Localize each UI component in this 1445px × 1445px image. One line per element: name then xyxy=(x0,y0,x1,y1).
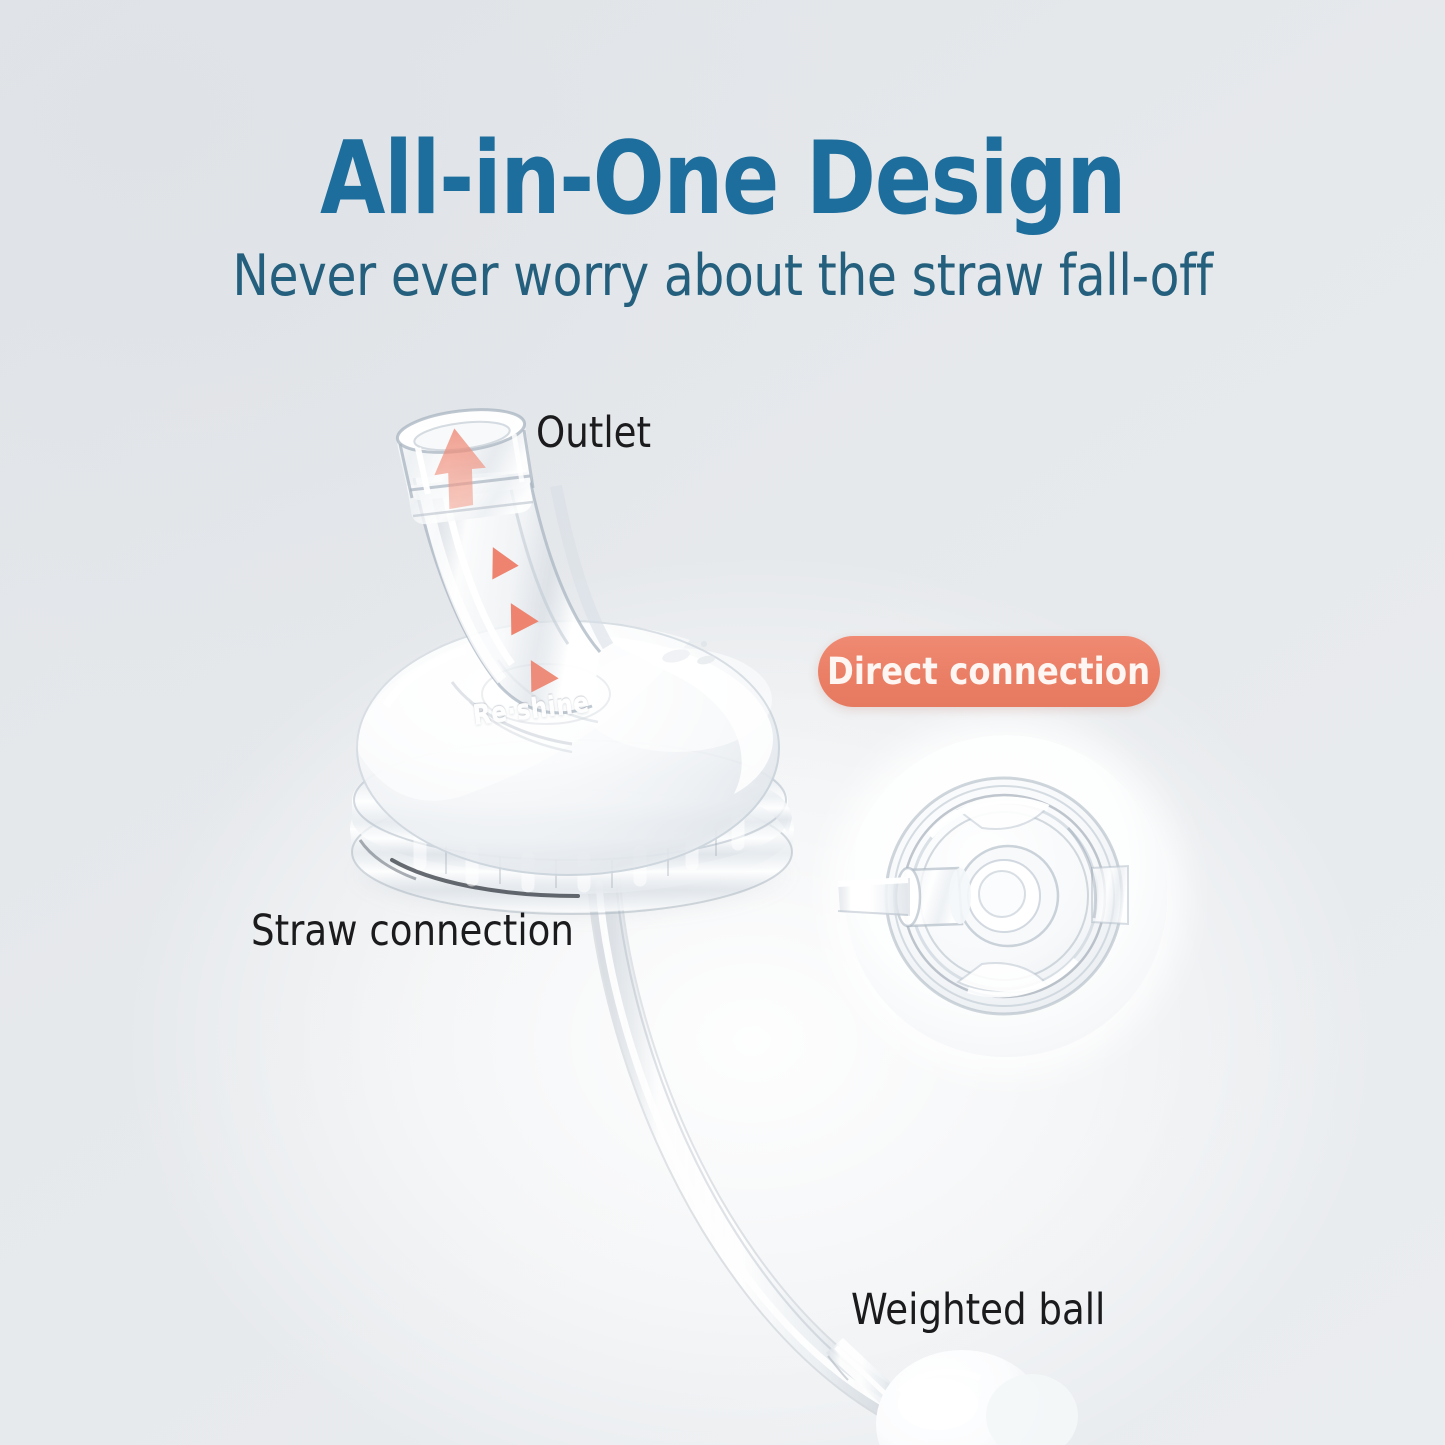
weighted-ball xyxy=(876,1350,1078,1445)
infographic-canvas: Re·shine All-in-One Design Never ever wo… xyxy=(0,0,1445,1445)
callout-label-straw-connection: Straw connection xyxy=(251,906,574,956)
callout-label-weighted-ball: Weighted ball xyxy=(851,1285,1105,1335)
direct-connection-badge: Direct connection xyxy=(818,636,1160,707)
direct-connection-badge-label: Direct connection xyxy=(827,650,1150,693)
page-subtitle: Never ever worry about the straw fall-of… xyxy=(36,248,1409,305)
closeup-straw-connection-detail xyxy=(838,778,1128,1014)
callout-label-outlet: Outlet xyxy=(536,408,651,458)
page-title: All-in-One Design xyxy=(51,128,1395,229)
